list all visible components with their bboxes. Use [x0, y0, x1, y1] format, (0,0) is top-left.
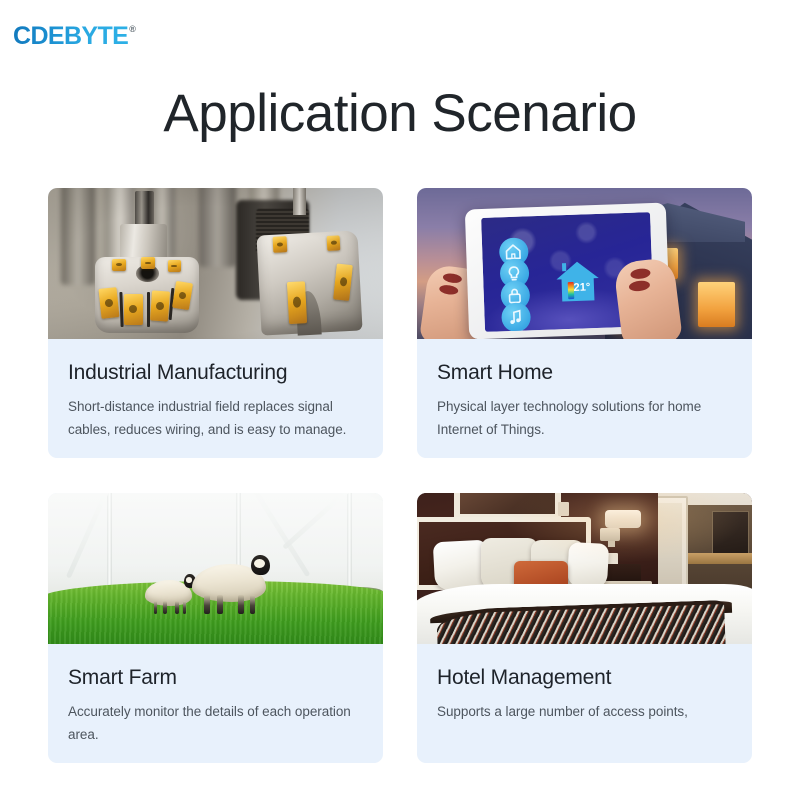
fingernail — [438, 283, 458, 295]
lit-window — [698, 282, 735, 327]
turbine-blade — [351, 493, 383, 520]
scenario-card-hotel-management[interactable]: Hotel Management Supports a large number… — [417, 493, 752, 763]
card-body: Smart Farm Accurately monitor the detail… — [48, 644, 383, 747]
lamb-leg — [154, 601, 158, 614]
page-title: Application Scenario — [0, 84, 800, 143]
lamb-leg — [183, 601, 187, 614]
lamb-leg — [163, 601, 167, 614]
lamb — [145, 573, 192, 614]
card-title: Smart Farm — [68, 666, 363, 689]
sheep-leg — [217, 595, 223, 614]
sheep-leg — [238, 595, 244, 614]
fingernail — [629, 280, 651, 293]
sheep-head — [251, 555, 270, 576]
music-note-icon — [501, 302, 531, 332]
scenario-card-grid: Industrial Manufacturing Short-distance … — [48, 188, 752, 763]
image-vignette — [48, 188, 383, 339]
card-body: Industrial Manufacturing Short-distance … — [48, 339, 383, 442]
sheep — [192, 553, 266, 613]
card-description: Short-distance industrial field replaces… — [68, 395, 363, 441]
lamb-leg — [175, 601, 179, 614]
card-description: Physical layer technology solutions for … — [437, 395, 732, 441]
warm-light-glow — [417, 493, 752, 644]
scenario-card-smart-farm[interactable]: Smart Farm Accurately monitor the detail… — [48, 493, 383, 763]
thermostat-house-icon: 21° — [552, 255, 604, 307]
turbine-blade — [282, 493, 353, 550]
fingernail — [442, 272, 462, 284]
card-title: Smart Home — [437, 361, 732, 384]
card-title: Hotel Management — [437, 666, 732, 689]
card-description: Supports a large number of access points… — [437, 700, 732, 723]
sheep-wind-turbines-image — [48, 493, 383, 644]
card-body: Smart Home Physical layer technology sol… — [417, 339, 752, 442]
svg-text:21°: 21° — [574, 282, 591, 295]
industrial-milling-cutters-image — [48, 188, 383, 339]
brand-logo: CDEBYTE® — [13, 24, 134, 49]
hotel-bedroom-image — [417, 493, 752, 644]
sheep-face-marking — [254, 559, 265, 568]
brand-name: CDEBYTE — [13, 22, 128, 50]
smart-home-tablet-image: 21° — [417, 188, 752, 339]
card-title: Industrial Manufacturing — [68, 361, 363, 384]
sheep-leg — [204, 595, 210, 614]
sheep-leg — [250, 595, 256, 614]
scenario-card-smart-home[interactable]: 21° Smart Home Physical layer technology… — [417, 188, 752, 458]
scenario-card-industrial-manufacturing[interactable]: Industrial Manufacturing Short-distance … — [48, 188, 383, 458]
registered-trademark-icon: ® — [129, 24, 135, 34]
fingernail — [630, 268, 652, 281]
card-description: Accurately monitor the details of each o… — [68, 700, 363, 746]
card-body: Hotel Management Supports a large number… — [417, 644, 752, 723]
